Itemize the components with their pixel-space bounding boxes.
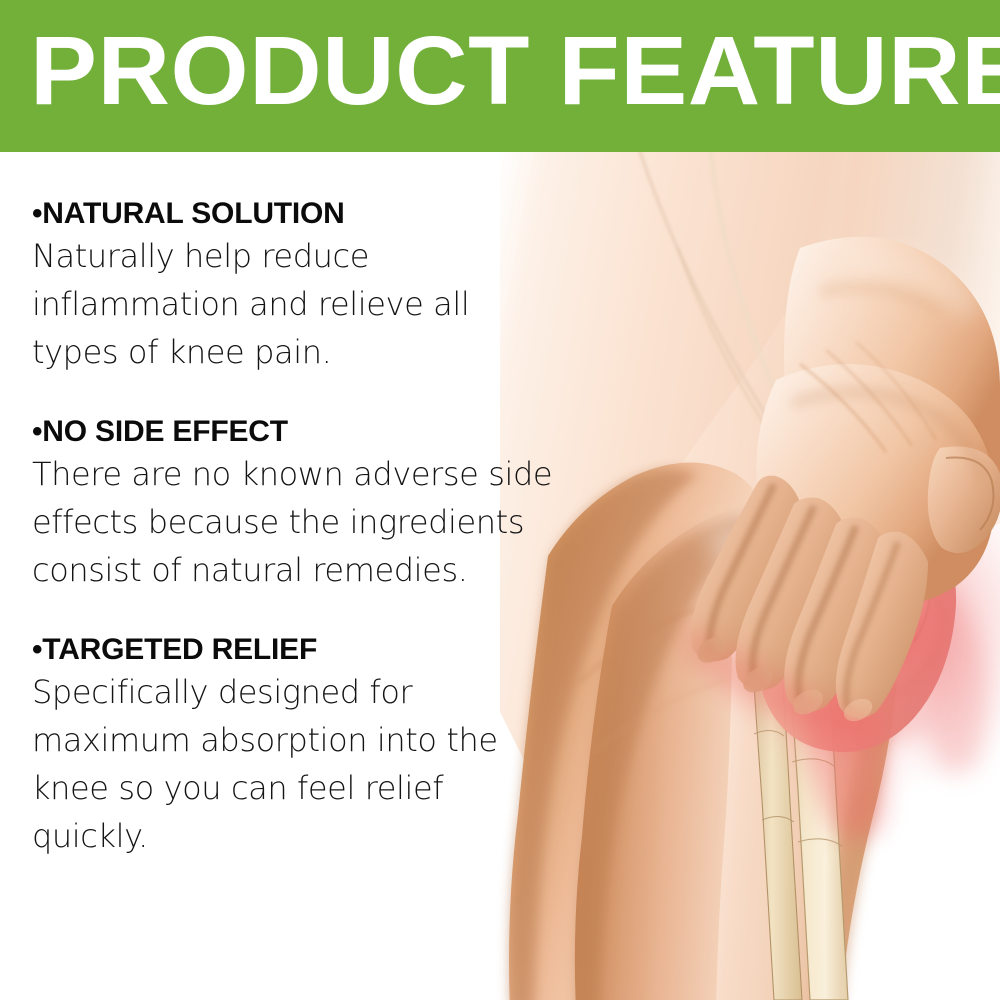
feature-block-targeted-relief: •TARGETED RELIEF Specifically designed f… <box>32 632 560 860</box>
feature-block-no-side-effect: •NO SIDE EFFECT There are no known adver… <box>32 414 560 594</box>
feature-body: Naturally help reduce inflammation and r… <box>32 232 560 376</box>
header-banner: PRODUCT FEATURES <box>0 0 1000 152</box>
feature-heading: •NO SIDE EFFECT <box>32 414 560 450</box>
feature-body: There are no known adverse side effects … <box>32 450 560 594</box>
feature-block-natural-solution: •NATURAL SOLUTION Naturally help reduce … <box>32 196 560 376</box>
feature-heading: •TARGETED RELIEF <box>32 632 560 668</box>
page-title: PRODUCT FEATURES <box>30 12 1000 130</box>
feature-heading: •NATURAL SOLUTION <box>32 196 560 232</box>
features-list: •NATURAL SOLUTION Naturally help reduce … <box>32 196 560 860</box>
product-features-poster: PRODUCT FEATURES •NATURAL SOLUTION Natur… <box>0 0 1000 1000</box>
feature-body: Specifically designed for maximum absorp… <box>32 668 560 860</box>
